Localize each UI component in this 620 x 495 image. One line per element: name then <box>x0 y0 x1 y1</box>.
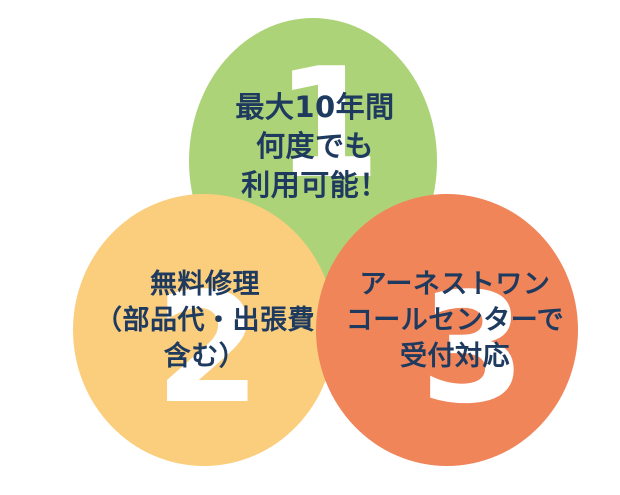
venn-caption-3-line-2: コールセンターで <box>300 303 610 339</box>
venn-caption-3-line-1: アーネストワン <box>300 267 610 303</box>
venn-diagram: 1 最大10年間 何度でも 利用可能！ 2 無料修理 （部品代・出張費 含む） … <box>0 0 620 495</box>
venn-caption-3-line-3: 受付対応 <box>300 339 610 375</box>
venn-caption-1: 最大10年間 何度でも 利用可能！ <box>150 88 480 205</box>
venn-caption-1-line-2: 何度でも <box>150 127 480 166</box>
venn-caption-3: アーネストワン コールセンターで 受付対応 <box>300 267 610 376</box>
venn-caption-1-line-1: 最大10年間 <box>150 88 480 127</box>
venn-item-3: 3 アーネストワン コールセンターで 受付対応 <box>300 195 610 485</box>
